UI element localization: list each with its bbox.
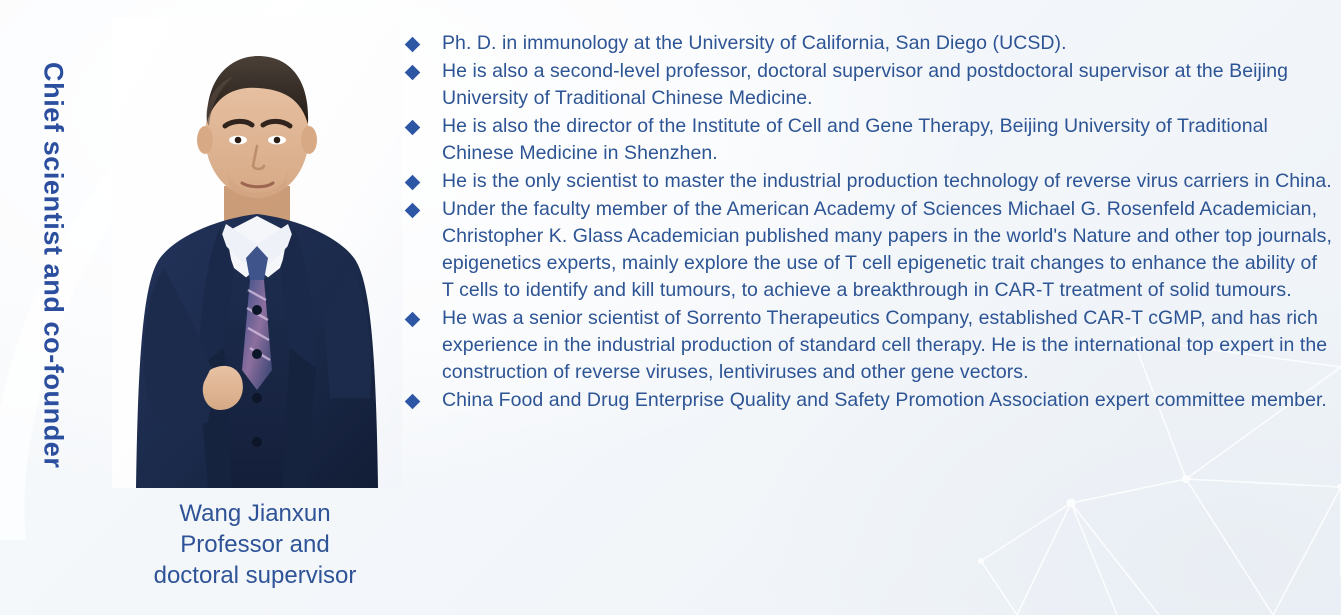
vertical-role-title-text: Chief scientist and co-founder [40, 62, 67, 469]
diamond-bullet-icon [404, 58, 442, 85]
list-item-text: He is also a second-level professor, doc… [442, 58, 1332, 112]
diamond-bullet-icon [404, 387, 442, 414]
list-item: Ph. D. in immunology at the University o… [404, 30, 1332, 57]
portrait-photo [112, 18, 402, 488]
name-caption-line-3: doctoral supervisor [105, 560, 405, 591]
name-caption: Wang Jianxun Professor and doctoral supe… [105, 498, 405, 591]
diamond-bullet-icon [404, 30, 442, 57]
list-item-text: He was a senior scientist of Sorrento Th… [442, 305, 1332, 386]
list-item: He was a senior scientist of Sorrento Th… [404, 305, 1332, 386]
list-item: He is also the director of the Institute… [404, 113, 1332, 167]
profile-slide: Chief scientist and co-founder [0, 0, 1341, 615]
list-item: He is also a second-level professor, doc… [404, 58, 1332, 112]
list-item-text: Under the faculty member of the American… [442, 196, 1332, 304]
list-item-text: China Food and Drug Enterprise Quality a… [442, 387, 1332, 414]
diamond-bullet-icon [404, 168, 442, 195]
name-caption-line-2: Professor and [105, 529, 405, 560]
list-item: Under the faculty member of the American… [404, 196, 1332, 304]
list-item-text: Ph. D. in immunology at the University o… [442, 30, 1332, 57]
diamond-bullet-icon [404, 196, 442, 223]
list-item: He is the only scientist to master the i… [404, 168, 1332, 195]
name-caption-line-1: Wang Jianxun [105, 498, 405, 529]
biography-list: Ph. D. in immunology at the University o… [404, 30, 1332, 415]
diamond-bullet-icon [404, 305, 442, 332]
diamond-bullet-icon [404, 113, 442, 140]
vertical-role-title: Chief scientist and co-founder [30, 62, 76, 502]
list-item: China Food and Drug Enterprise Quality a… [404, 387, 1332, 414]
list-item-text: He is the only scientist to master the i… [442, 168, 1332, 195]
list-item-text: He is also the director of the Institute… [442, 113, 1332, 167]
